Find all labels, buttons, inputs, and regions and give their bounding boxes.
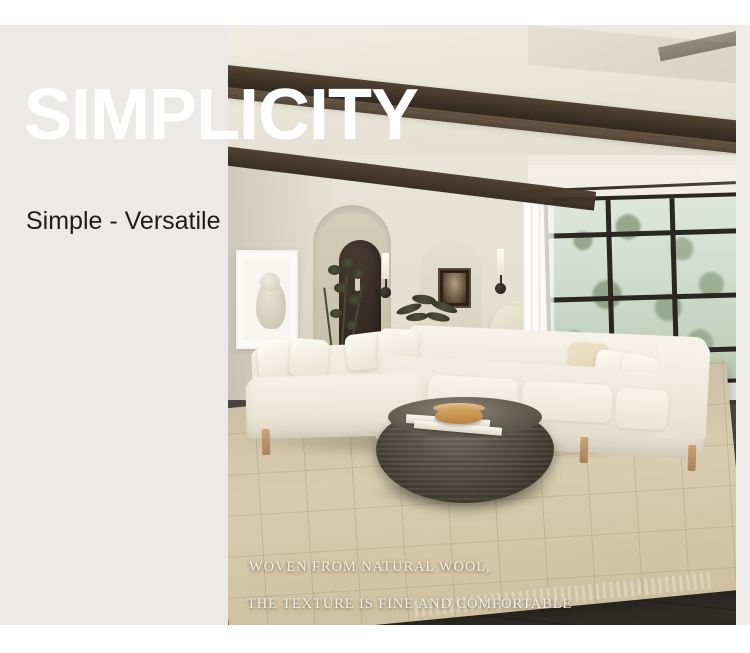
sofa-cushion [615, 388, 669, 431]
product-banner: SIMPLICITY Simple - Versatile WOVEN FROM… [0, 0, 750, 653]
plant-leaf [352, 269, 364, 279]
sofa-leg [580, 437, 589, 463]
caption-line-2: THE TEXTURE IS FINE AND COMFORTABLE [247, 596, 572, 613]
sofa-leg [262, 429, 271, 455]
plant-leaf [348, 295, 361, 305]
caption-line-1: WOVEN FROM NATURAL WOOL, [249, 559, 491, 576]
plant-leaf [346, 321, 358, 330]
right-edge-strip [735, 25, 750, 625]
sofa-leg [688, 445, 697, 471]
art-mat [244, 259, 290, 340]
bust-head-icon [260, 273, 280, 291]
throw-pillow [289, 338, 330, 379]
wall-sconce-icon [497, 249, 504, 275]
plant-leaf [334, 283, 348, 293]
framed-sculpture-art [236, 250, 298, 349]
plant-leaf [340, 257, 355, 268]
subtitle: Simple - Versatile [26, 207, 221, 236]
sconce-base-icon [495, 283, 506, 294]
page-title: SIMPLICITY [24, 79, 418, 151]
sconce-base-icon [380, 287, 391, 298]
wall-sconce-icon [382, 253, 389, 279]
plant-leaf [328, 265, 341, 275]
wooden-bowl [435, 406, 483, 424]
plant-leaf [330, 309, 342, 318]
